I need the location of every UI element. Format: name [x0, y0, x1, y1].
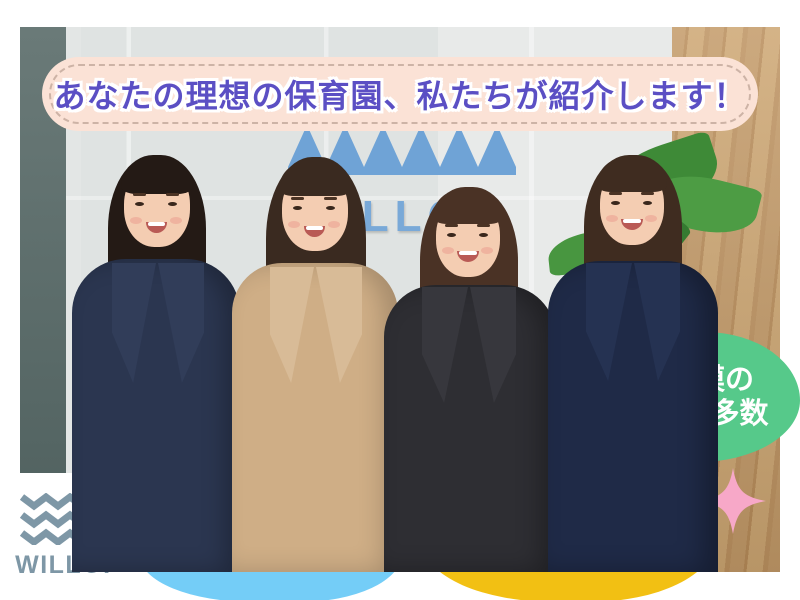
advertisement-canvas: WILLOF: [0, 0, 800, 600]
headline-text: あなたの理想の保育園、私たちが紹介します！: [53, 71, 746, 117]
headline-banner: あなたの理想の保育園、私たちが紹介します！: [42, 57, 758, 131]
